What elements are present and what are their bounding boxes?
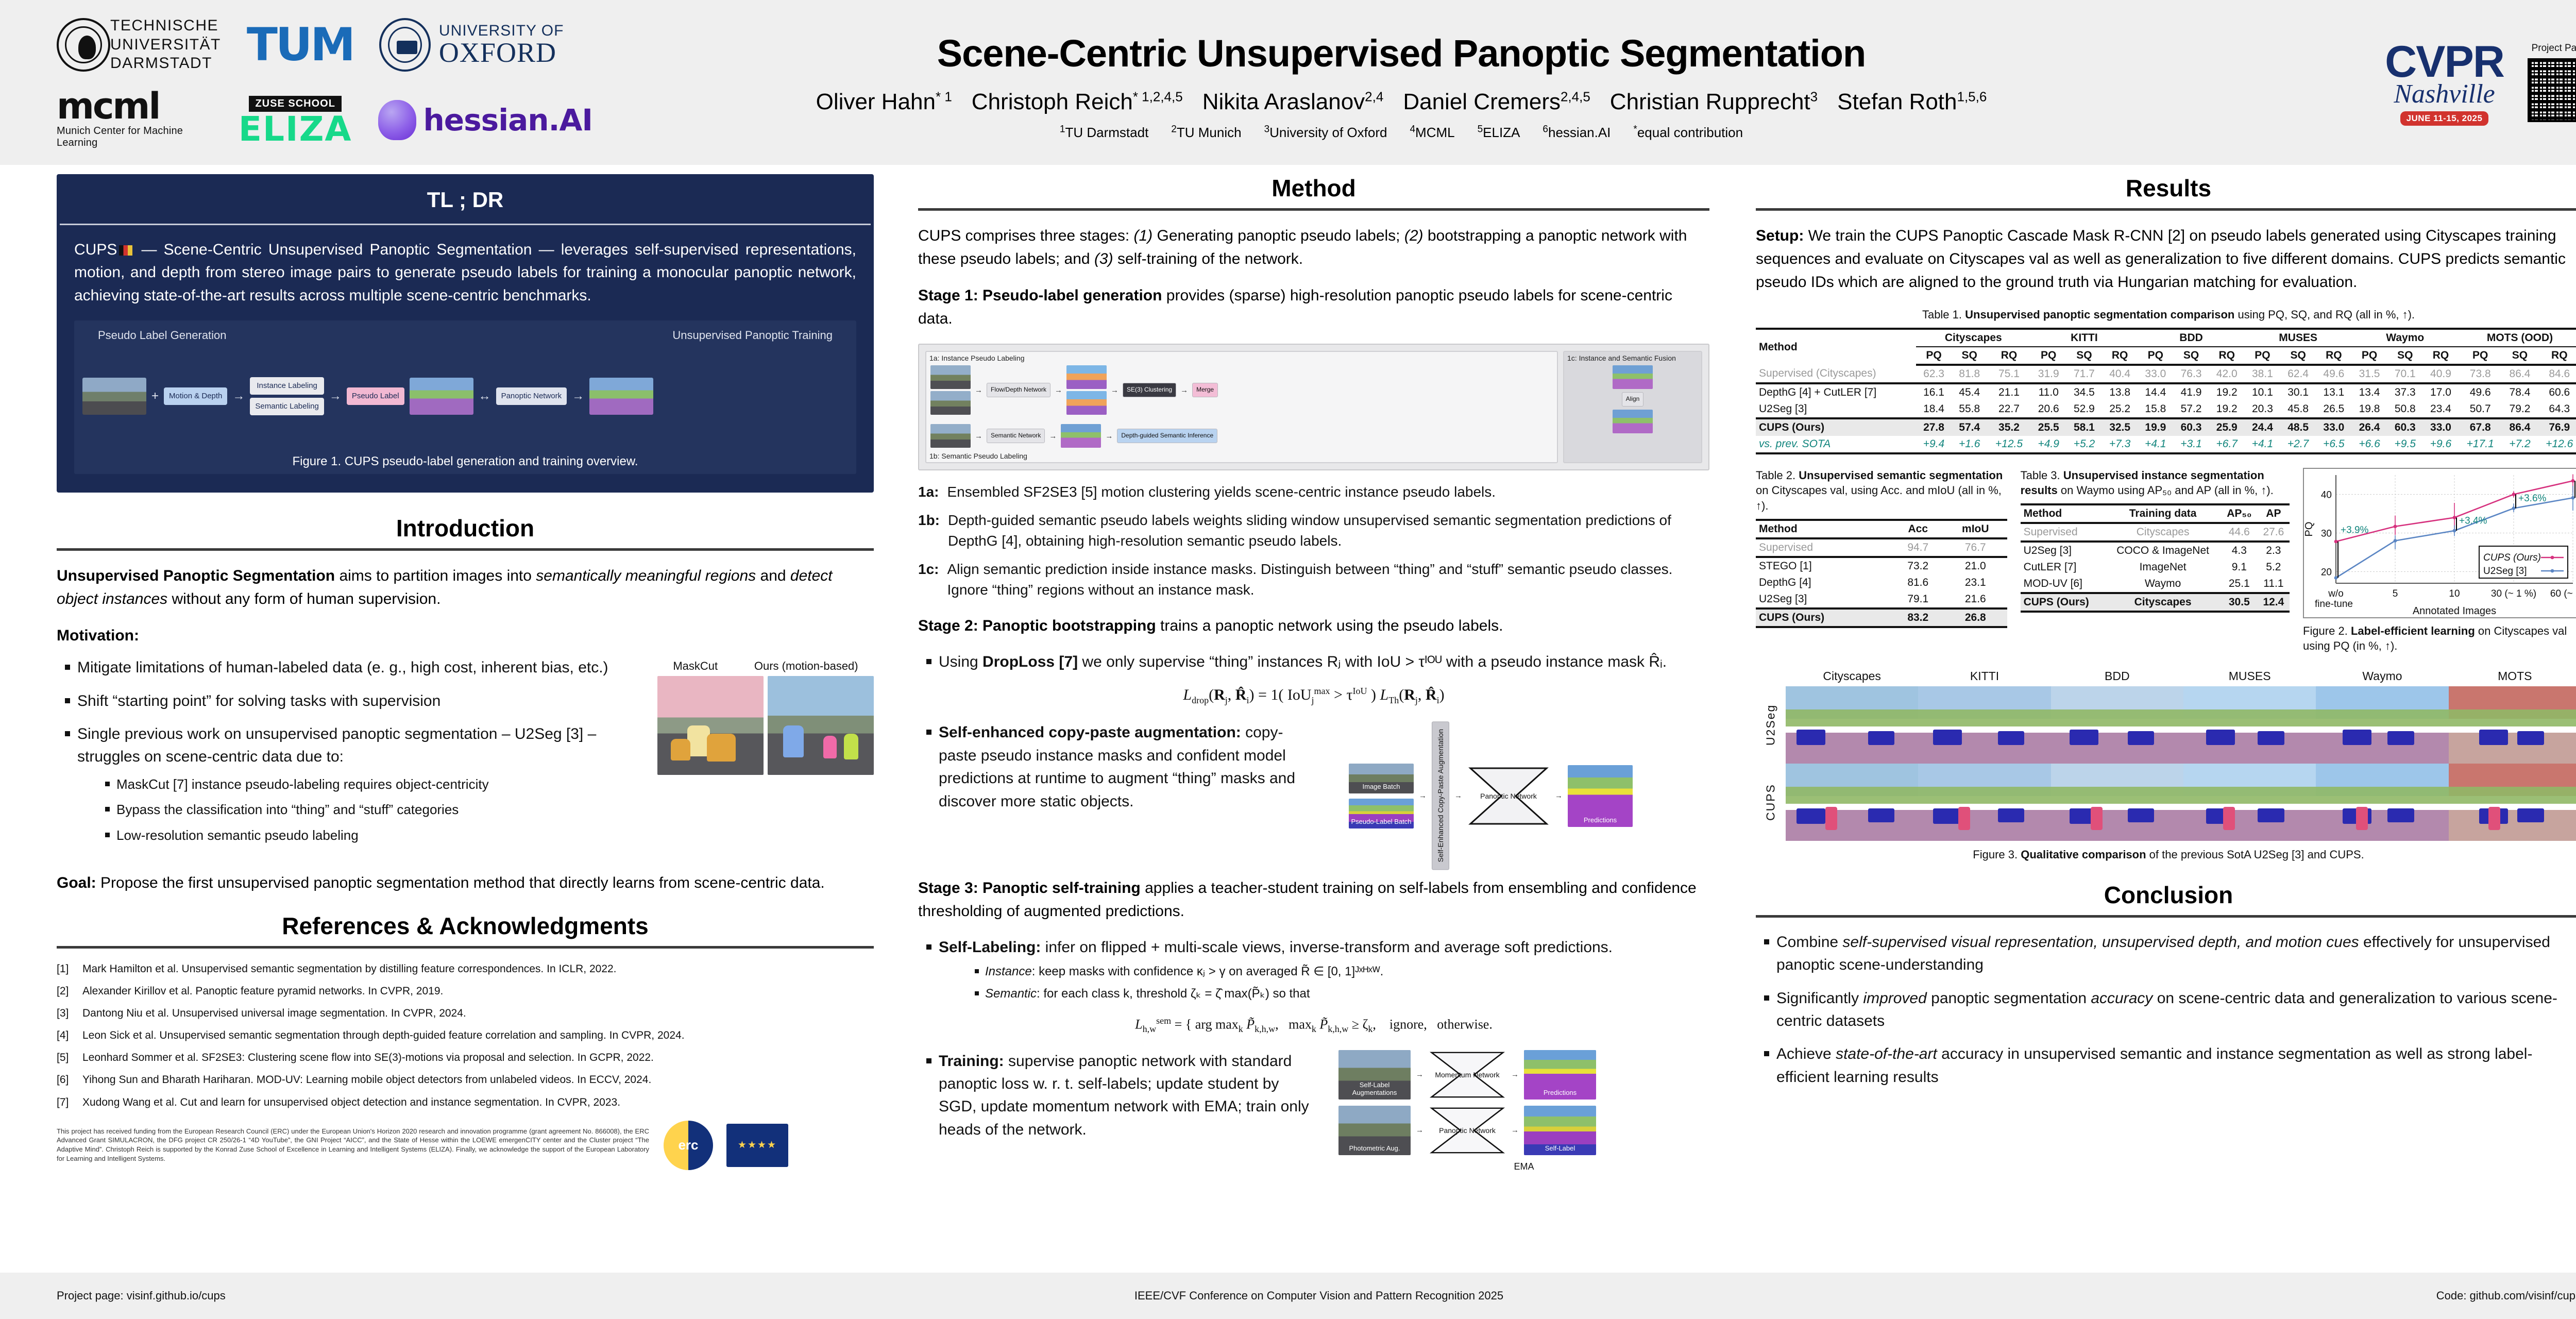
arrow-icon-b2: →: [1049, 432, 1057, 441]
table1-metric-header: SQ: [2066, 347, 2102, 365]
figure-3-grid: U2SegCUPS: [1756, 686, 2576, 841]
pseudo-label-batch-thumb: Pseudo-Label Batch: [1349, 799, 1414, 828]
author-3: Nikita Araslanov2,4: [1202, 89, 1384, 114]
table1-cell: 13.8: [2102, 383, 2138, 401]
figure-1-pseudo-image: [410, 378, 473, 415]
svg-text:10: 10: [2449, 588, 2460, 599]
table1-cell: +6.6: [2351, 436, 2387, 453]
introduction-heading: Introduction: [57, 514, 874, 542]
instance-label: Instance: [985, 965, 1032, 978]
table3-training-data: Waymo: [2105, 576, 2221, 593]
tum-logo: TUM: [247, 24, 353, 66]
table1-cell: +4.1: [2138, 436, 2173, 453]
goal-label: Goal:: [57, 874, 96, 891]
table1-cell: +12.6: [2538, 436, 2576, 453]
erc-logo-icon: [664, 1121, 713, 1170]
acknowledgment-text: This project has received funding from t…: [57, 1127, 649, 1163]
table3-cell: 2.3: [2258, 542, 2290, 559]
conclusion-pre: Achieve: [1776, 1045, 1836, 1062]
reference-number: [2]: [57, 984, 75, 999]
table2-row-label: Supervised: [1756, 538, 1892, 557]
svg-text:60 (~ 2 %): 60 (~ 2 %): [2550, 588, 2576, 599]
table1-cell: 64.3: [2538, 401, 2576, 418]
conclusion-bullet: Combine self-supervised visual represent…: [1756, 931, 2576, 977]
table2-row-label: STEGO [1]: [1756, 557, 1892, 574]
table1-metric-header: RQ: [2316, 347, 2351, 365]
table1-metric-header: PQ: [1916, 347, 1952, 365]
substage-tag: 1a:: [918, 482, 939, 503]
table1-caption: Table 1. Unsupervised panoptic segmentat…: [1756, 307, 2576, 323]
reference-number: [1]: [57, 962, 75, 976]
figure-1-panoptic-net-box: Panoptic Network: [496, 387, 567, 405]
reference-text: Xudong Wang et al. Cut and learn for uns…: [82, 1095, 620, 1110]
table1-metric-header: SQ: [2173, 347, 2209, 365]
table1-cell: 48.5: [2280, 418, 2316, 436]
table2-cell: 23.1: [1944, 574, 2007, 591]
panel-1a-input-2: [930, 391, 971, 415]
table1-metric-header: SQ: [2387, 347, 2423, 365]
author-list: Oliver Hahn* 1Christoph Reich* 1,2,4,5Ni…: [592, 89, 2210, 115]
svg-text:+3.6%: +3.6%: [2518, 493, 2547, 504]
table1-cell: 55.8: [1952, 401, 1987, 418]
figure-2-caption: Figure 2. Label-efficient learning on Ci…: [2303, 623, 2576, 654]
align-box: Align: [1622, 392, 1644, 407]
table2-cell: 76.7: [1944, 538, 2007, 557]
figure3-cell: [2449, 764, 2576, 841]
table1-cell: 42.0: [2209, 365, 2245, 383]
table3-header: AP₅₀: [2221, 504, 2258, 523]
hessian-lion-icon: [378, 100, 416, 140]
panel-1c: 1c: Instance and Semantic Fusion Align: [1563, 351, 1702, 463]
figure-1: Pseudo Label Generation Unsupervised Pan…: [74, 320, 856, 474]
tables-2-3-figure-2-row: Table 2. Unsupervised semantic segmentat…: [1756, 468, 2576, 654]
tu-darmstadt-seal-icon: [57, 18, 110, 72]
conclusion-rule: [1756, 915, 2576, 918]
reference-number: [3]: [57, 1006, 75, 1021]
table2-cell: 79.1: [1892, 591, 1944, 608]
table1-cell: 17.0: [2423, 383, 2459, 401]
figure-1-motion-depth-box: Motion & Depth: [164, 387, 227, 405]
table1-cell: 62.4: [2280, 365, 2316, 383]
figure-1-output-image: [589, 378, 653, 415]
figure3-cell: [1786, 764, 1918, 841]
affiliation-7: *equal contribution: [1633, 125, 1743, 140]
stage1-paragraph: Stage 1: Pseudo-label generation provide…: [918, 284, 1709, 330]
stage1-substages: 1a:Ensembled SF2SE3 [5] motion clusterin…: [918, 482, 1709, 601]
table2-cell: 26.8: [1944, 608, 2007, 627]
figure3-row-label: U2Seg: [1756, 686, 1786, 764]
arrow-icon-n3: →: [1555, 791, 1563, 800]
reference-item: [4]Leon Sick et al. Unsupervised semanti…: [57, 1028, 874, 1043]
affiliation-2: 2TU Munich: [1171, 125, 1241, 140]
instance-text: : keep masks with confidence κⱼ > γ on a…: [1032, 965, 1384, 978]
table3-header: AP: [2258, 504, 2290, 523]
table1-metric-header: PQ: [2031, 347, 2066, 365]
table1-cell: +17.1: [2459, 436, 2502, 453]
table3-row: CutLER [7]ImageNet9.15.2: [2021, 559, 2290, 576]
table3-row-label: U2Seg [3]: [2021, 542, 2105, 559]
arrow-icon-4: →: [572, 389, 584, 403]
stage3-predictions-label: Predictions: [1524, 1089, 1596, 1096]
mcml-subtitle: Munich Center for Machine Learning: [57, 125, 213, 149]
funding-logos: [664, 1118, 788, 1170]
table1-cell: 76.9: [2538, 418, 2576, 436]
table1-cell: 49.6: [2459, 383, 2502, 401]
table3-cell: 11.1: [2258, 576, 2290, 593]
semantic-threshold-formula: Lh,wsem = { arg maxk P̃k,h,w, maxk P̃k,h…: [918, 1016, 1709, 1035]
svg-text:20: 20: [2321, 567, 2332, 578]
svg-text:fine-tune: fine-tune: [2315, 599, 2353, 610]
stage1-label: Stage 1: Pseudo-label generation: [918, 287, 1162, 304]
table2-row: CUPS (Ours)83.226.8: [1756, 608, 2007, 627]
self-label-thumb: Self-Label: [1524, 1106, 1596, 1155]
table1-cell: 11.0: [2031, 383, 2066, 401]
table1-dataset-header: Waymo: [2351, 329, 2459, 347]
conclusion-pre: Significantly: [1776, 990, 1863, 1007]
table1-cell: 16.1: [1916, 383, 1952, 401]
acknowledgment-row: This project has received funding from t…: [57, 1118, 874, 1170]
project-page-qr[interactable]: Project Page: [2528, 43, 2576, 122]
affiliation-list: 1TU Darmstadt2TU Munich3University of Ox…: [592, 124, 2210, 141]
table1-cell: 73.8: [2459, 365, 2502, 383]
table1-cell: 25.2: [2102, 401, 2138, 418]
table1-caption-bold: Unsupervised panoptic segmentation compa…: [1965, 308, 2234, 321]
table1-metric-header: SQ: [1952, 347, 1987, 365]
droploss-post: we only supervise “thing” instances Rⱼ w…: [1078, 653, 1667, 670]
arrow-icon-a2: →: [1055, 386, 1062, 395]
author-6: Stefan Roth1,5,6: [1837, 89, 1987, 114]
table-3-block: Table 3. Unsupervised instance segmentat…: [2021, 468, 2290, 654]
pseudo-label-batch-label: Pseudo-Label Batch: [1349, 818, 1414, 825]
introduction-lead: Unsupervised Panoptic Segmentation aims …: [57, 564, 874, 611]
table3-caption: Table 3. Unsupervised instance segmentat…: [2021, 468, 2290, 498]
panel-1b-tag: 1b: Semantic Pseudo Labeling: [929, 452, 1027, 460]
table1-metric-header: SQ: [2502, 347, 2537, 365]
self-label-aug-label: Self-Label Augmentations: [1338, 1081, 1411, 1096]
table2-cell: 94.7: [1892, 538, 1944, 557]
table-2-block: Table 2. Unsupervised semantic segmentat…: [1756, 468, 2007, 654]
figure-1-headings: Pseudo Label Generation Unsupervised Pan…: [82, 328, 848, 347]
table1-metric-header: PQ: [2459, 347, 2502, 365]
table1-cell: 10.1: [2245, 383, 2280, 401]
panoptic-pseudo-label-image: [1613, 410, 1653, 433]
image-batch-label: Image Batch: [1349, 783, 1414, 790]
table1-cell: 22.7: [1987, 401, 2030, 418]
stage2-network-canvas: Image Batch Pseudo-Label Batch → Self-En…: [1349, 721, 1709, 870]
table1-cell: 25.9: [2209, 418, 2245, 436]
table2-row-label: DepthG [4]: [1756, 574, 1892, 591]
momentum-network-label: Momentum Network: [1429, 1050, 1506, 1100]
training-label: Training:: [939, 1053, 1004, 1070]
figure2-caption-num: Figure 2.: [2303, 624, 2348, 637]
figure3-caption-bold: Qualitative comparison: [2021, 848, 2146, 861]
tu-darmstadt-logo: TECHNISCHE UNIVERSITÄT DARMSTADT: [57, 16, 221, 73]
footer-project-page[interactable]: Project page: visinf.github.io/cups: [0, 1289, 876, 1303]
table1-row: U2Seg [3]18.455.822.720.652.925.215.857.…: [1756, 401, 2576, 418]
table3-cell: 44.6: [2221, 523, 2258, 542]
table1-cell: 31.9: [2031, 365, 2066, 383]
introduction-rule: [57, 548, 874, 551]
table1-cell: +1.6: [1952, 436, 1987, 453]
table3-cell: 30.5: [2221, 593, 2258, 612]
motivation-bullet-3-text: Single previous work on unsupervised pan…: [77, 725, 596, 765]
reference-item: [2]Alexander Kirillov et al. Panoptic fe…: [57, 984, 874, 999]
references-rule: [57, 946, 874, 949]
stage2-network-figure: Image Batch Pseudo-Label Batch → Self-En…: [1349, 721, 1709, 870]
arrow-icon-a1: →: [975, 386, 982, 395]
table1-row: vs. prev. SOTA+9.4+1.6+12.5+4.9+5.2+7.3+…: [1756, 436, 2576, 453]
panel-1a-1b: 1a: Instance Pseudo Labeling → Flow/Dept…: [925, 351, 1558, 463]
photometric-aug-thumb: Photometric Aug.: [1338, 1106, 1411, 1155]
substage-item: 1a:Ensembled SF2SE3 [5] motion clusterin…: [918, 482, 1709, 503]
table1-cell: 38.1: [2245, 365, 2280, 383]
affiliation-4: 4MCML: [1410, 125, 1454, 140]
table1-cell: 45.8: [2280, 401, 2316, 418]
panoptic-network-label: Panoptic Network: [1467, 765, 1550, 827]
tldr-panel: TL ; DR CUPS — Scene-Centric Unsupervise…: [57, 174, 874, 493]
figure3-cell: [2051, 764, 2183, 841]
table1-cell: 79.2: [2502, 401, 2537, 418]
table1-cell: +5.2: [2066, 436, 2102, 453]
references-section: References & Acknowledgments [1]Mark Ham…: [57, 912, 874, 1170]
cvpr-date-badge: JUNE 11-15, 2025: [2400, 111, 2489, 126]
motivation-sub-bullet-3: Low-resolution semantic pseudo labeling: [99, 826, 874, 845]
figure-1-semantic-box: Semantic Labeling: [250, 398, 324, 415]
qr-code-icon[interactable]: [2528, 58, 2576, 122]
figure3-caption-num: Figure 3.: [1973, 848, 2018, 861]
table1-cell: 86.4: [2502, 418, 2537, 436]
table1-cell: 34.5: [2066, 383, 2102, 401]
reference-text: Dantong Niu et al. Unsupervised universa…: [82, 1006, 466, 1021]
stage3-sub-bullets: Instance: keep masks with confidence κⱼ …: [970, 963, 1709, 1003]
reference-list: [1]Mark Hamilton et al. Unsupervised sem…: [57, 962, 874, 1110]
stage3-sub-semantic: Semantic: for each class k, threshold ζₖ…: [970, 985, 1709, 1003]
poster-body: TL ; DR CUPS — Scene-Centric Unsupervise…: [0, 165, 2576, 1273]
reference-number: [6]: [57, 1073, 75, 1087]
svg-text:PQ: PQ: [2304, 521, 2315, 536]
figure-3-column-labels: CityscapesKITTIBDDMUSESWaymoMOTS: [1786, 669, 2576, 683]
table3-row-label: Supervised: [2021, 523, 2105, 542]
table1-row: Supervised (Cityscapes)62.381.875.131.97…: [1756, 365, 2576, 383]
svg-text:Annotated Images: Annotated Images: [2413, 605, 2496, 617]
arrow-icon-b3: →: [1105, 432, 1113, 441]
stage2-bullets: Using DropLoss [7] we only supervise “th…: [918, 651, 1709, 673]
table1-row-label: vs. prev. SOTA: [1756, 436, 1916, 453]
results-heading: Results: [1756, 174, 2576, 202]
table1-cell: +6.7: [2209, 436, 2245, 453]
affiliation-logos: TECHNISCHE UNIVERSITÄT DARMSTADT TUM UNI…: [0, 0, 592, 165]
self-label-label: Self-Label: [1524, 1144, 1596, 1152]
substage-text: Depth-guided semantic pseudo labels weig…: [948, 510, 1709, 552]
table-3: MethodTraining dataAP₅₀APSupervisedCitys…: [2021, 503, 2290, 613]
motivation-bullet-3: Single previous work on unsupervised pan…: [57, 723, 874, 845]
table1-cell: +9.6: [2423, 436, 2459, 453]
figure3-cell: [2449, 686, 2576, 764]
table1-cell: 13.4: [2351, 383, 2387, 401]
conclusion-pre: Combine: [1776, 934, 1842, 951]
panel-1b-input: [930, 424, 971, 448]
semantic-text: : for each class k, threshold ζₖ = ζ̂ ma…: [1037, 987, 1310, 1001]
panel-1a-input-1: [930, 365, 971, 389]
reference-item: [3]Dantong Niu et al. Unsupervised unive…: [57, 1006, 874, 1021]
ema-label: EMA: [1338, 1161, 1709, 1172]
droploss-label: DropLoss [7]: [982, 653, 1078, 670]
table1-row-label: U2Seg [3]: [1756, 401, 1916, 418]
flow-depth-network-box: Flow/Depth Network: [987, 383, 1050, 397]
author-2: Christoph Reich* 1,2,4,5: [972, 89, 1183, 114]
substage-text: Align semantic prediction inside instanc…: [947, 559, 1709, 601]
table1-cell: 13.1: [2316, 383, 2351, 401]
image-batch-thumb: Image Batch: [1349, 764, 1414, 793]
poster-header: TECHNISCHE UNIVERSITÄT DARMSTADT TUM UNI…: [0, 0, 2576, 165]
substage-tag: 1b:: [918, 510, 940, 552]
figure3-row-label: CUPS: [1756, 764, 1786, 841]
table1-cell: 27.8: [1916, 418, 1952, 436]
table1-cell: 26.5: [2316, 401, 2351, 418]
motivation-bullet-1: Mitigate limitations of human-labeled da…: [57, 656, 874, 679]
table1-cell: 60.6: [2538, 383, 2576, 401]
table1-metric-header: PQ: [2351, 347, 2387, 365]
intro-lead-rest: aims to partition images into: [335, 567, 536, 584]
conclusion-bullet: Significantly improved panoptic segmenta…: [1756, 987, 2576, 1033]
figure-1-pseudo-label-box: Pseudo Label: [347, 387, 404, 405]
figure3-cell: [2316, 764, 2448, 841]
table1-cell: 20.6: [2031, 401, 2066, 418]
stage3-label: Stage 3: Panoptic self-training: [918, 880, 1141, 897]
table1-dataset-header: MOTS (OOD): [2459, 329, 2576, 347]
intro-lead-bold: Unsupervised Panoptic Segmentation: [57, 567, 335, 584]
substage-tag: 1c:: [918, 559, 939, 601]
table3-header: Method: [2021, 504, 2105, 523]
method-intro-i1: (1): [1134, 227, 1153, 244]
stage3-bullet-training: Training: supervise panoptic network wit…: [918, 1050, 1310, 1142]
reference-text: Alexander Kirillov et al. Panoptic featu…: [82, 984, 443, 999]
figure-2-block: 203040+3.9%+3.4%+3.6%+4.5%w/o51030 (~ 1 …: [2303, 468, 2576, 654]
reference-number: [5]: [57, 1051, 75, 1065]
motivation-sub-bullet-2: Bypass the classification into “thing” a…: [99, 800, 874, 820]
table1-cell: 62.3: [1916, 365, 1952, 383]
cvpr-city: Nashville: [2394, 79, 2495, 109]
table1-cell: 58.1: [2066, 418, 2102, 436]
author-4: Daniel Cremers2,4,5: [1403, 89, 1590, 114]
table1-dataset-header: KITTI: [2031, 329, 2138, 347]
column-middle: Method CUPS comprises three stages: (1) …: [896, 174, 1731, 1273]
motivation-sub-bullets: MaskCut [7] instance pseudo-labeling req…: [99, 775, 874, 845]
table1-metric-header: SQ: [2280, 347, 2316, 365]
predictions-label: Predictions: [1568, 816, 1633, 824]
table-1: MethodCityscapesKITTIBDDMUSESWaymoMOTS (…: [1756, 328, 2576, 454]
instance-pseudo-label-image: [1613, 365, 1653, 389]
figure-2-chart: 203040+3.9%+3.4%+3.6%+4.5%w/o51030 (~ 1 …: [2303, 468, 2576, 618]
table1-metric-header: RQ: [2423, 347, 2459, 365]
figure3-cell: [2183, 686, 2316, 764]
table1-cell: 23.4: [2423, 401, 2459, 418]
table3-row: SupervisedCityscapes44.627.6: [2021, 523, 2290, 542]
table2-header: mIoU: [1944, 520, 2007, 538]
svg-text:+3.4%: +3.4%: [2459, 515, 2487, 526]
svg-text:5: 5: [2393, 588, 2398, 599]
table1-cell: 18.4: [1916, 401, 1952, 418]
semantic-predictions-image: [1061, 424, 1101, 448]
svg-text:+3.9%: +3.9%: [2341, 525, 2369, 535]
table1-cell: +2.7: [2280, 436, 2316, 453]
table1-cell: 15.8: [2138, 401, 2173, 418]
table3-cell: 9.1: [2221, 559, 2258, 576]
stage3-teacher-row: Self-Label Augmentations → Momentum Netw…: [1338, 1050, 1709, 1100]
table1-cell: 32.5: [2102, 418, 2138, 436]
figure3-cell: [1918, 686, 2050, 764]
stage2-bullet-droploss: Using DropLoss [7] we only supervise “th…: [918, 651, 1709, 673]
oxford-logo-text: UNIVERSITY OF OXFORD: [439, 23, 564, 66]
table2-caption: Table 2. Unsupervised semantic segmentat…: [1756, 468, 2007, 514]
table1-row-label: Supervised (Cityscapes): [1756, 365, 1916, 383]
table1-cell: 24.4: [2245, 418, 2280, 436]
svg-text:U2Seg [3]: U2Seg [3]: [2483, 566, 2527, 577]
table1-cell: 57.2: [2173, 401, 2209, 418]
table1-cell: 33.0: [2138, 365, 2173, 383]
stage1-pipeline-figure: 1a: Instance Pseudo Labeling → Flow/Dept…: [918, 344, 1709, 470]
table1-cell: 52.9: [2066, 401, 2102, 418]
table1-row: DepthG [4] + CutLER [7]16.145.421.111.03…: [1756, 383, 2576, 401]
method-heading: Method: [918, 174, 1709, 202]
figure3-cell: [2316, 686, 2448, 764]
conclusion-emphasis: self-supervised visual representation, u…: [1842, 934, 2359, 951]
figure3-col-label: Cityscapes: [1786, 669, 1918, 683]
oxford-seal-icon: [379, 18, 431, 72]
method-intro-t1: Generating panoptic pseudo labels;: [1153, 227, 1404, 244]
cvpr-wordmark: CVPR: [2385, 40, 2504, 84]
table2-header: Method: [1756, 520, 1892, 538]
footer-code-link[interactable]: Code: github.com/visinf/cups: [1762, 1289, 2576, 1303]
goal-text: Propose the first unsupervised panoptic …: [96, 874, 825, 891]
table2-caption-bold: Unsupervised semantic segmentation: [1799, 469, 2003, 482]
table1-cell: 33.0: [2316, 418, 2351, 436]
table1-metric-header: RQ: [2538, 347, 2576, 365]
oxford-line-2: OXFORD: [439, 39, 564, 66]
table1-cell: 70.1: [2387, 365, 2423, 383]
table1-cell: +9.5: [2387, 436, 2423, 453]
conclusion-section: Conclusion Combine self-supervised visua…: [1756, 881, 2576, 1089]
photometric-aug-label: Photometric Aug.: [1338, 1144, 1411, 1152]
table1-cell: 25.5: [2031, 418, 2066, 436]
table1-dataset-header: BDD: [2138, 329, 2245, 347]
table1-cell: +4.1: [2245, 436, 2280, 453]
conclusion-emphasis: improved: [1863, 990, 1926, 1007]
panel-1a-body: → Flow/Depth Network → → SE(3) Clusterin…: [930, 356, 1553, 415]
self-label-aug-thumb: Self-Label Augmentations: [1338, 1050, 1411, 1100]
reference-item: [6]Yihong Sun and Bharath Hariharan. MOD…: [57, 1073, 874, 1087]
poster-footer: Project page: visinf.github.io/cups IEEE…: [0, 1273, 2576, 1319]
table1-cell: 86.4: [2502, 365, 2537, 383]
arrow-icon-a3: →: [1111, 386, 1118, 395]
affiliation-5: 5ELIZA: [1478, 125, 1520, 140]
tud-line-1: TECHNISCHE: [110, 16, 221, 36]
selflabeling-label: Self-Labeling:: [939, 939, 1041, 956]
panoptic-network-shape: Panoptic Network: [1467, 765, 1550, 827]
tldr-cups-label: CUPS: [74, 241, 117, 258]
reference-text: Leon Sick et al. Unsupervised semantic s…: [82, 1028, 685, 1043]
table1-cell: +9.4: [1916, 436, 1952, 453]
table1-caption-num: Table 1.: [1922, 308, 1962, 321]
introduction-section: Introduction Unsupervised Panoptic Segme…: [57, 514, 874, 894]
motivation-label: Motivation:: [57, 624, 874, 647]
eu-flag-icon: [726, 1124, 788, 1167]
german-flag-icon: [119, 245, 132, 256]
cvpr-logo: CVPR Nashville JUNE 11-15, 2025: [2385, 40, 2504, 126]
table1-row-label: DepthG [4] + CutLER [7]: [1756, 383, 1916, 401]
table2-row: Supervised94.776.7: [1756, 538, 2007, 557]
column-right: Results Setup: We train the CUPS Panopti…: [1731, 174, 2576, 1273]
